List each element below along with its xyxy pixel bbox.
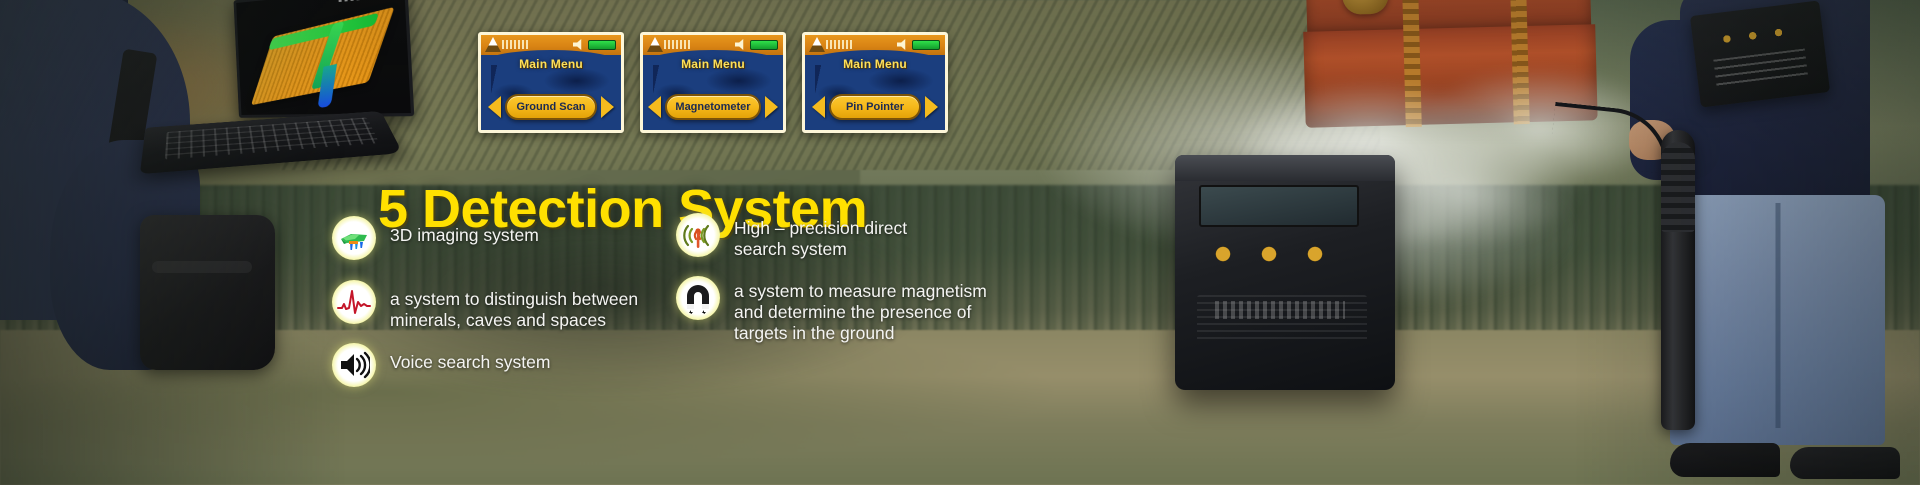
3d-imaging-icon — [332, 216, 376, 260]
battery-icon — [912, 40, 940, 50]
next-mode-arrow-icon[interactable] — [925, 96, 938, 118]
feature-label: High – precision direct search system — [734, 213, 907, 260]
feature-label: Voice search system — [390, 343, 550, 373]
mode-selector-row: Magnetometer — [643, 94, 783, 120]
right-operator-photo — [1560, 0, 1920, 485]
brand-logo-icon — [485, 37, 501, 52]
previous-mode-arrow-icon[interactable] — [812, 96, 825, 118]
waveform-pulse-icon — [332, 280, 376, 324]
ground-scan-3d-visualization — [254, 0, 399, 114]
brand-text-mark — [502, 40, 530, 49]
speaker-icon[interactable] — [573, 39, 584, 50]
mode-button[interactable]: Pin Pointer — [829, 94, 921, 120]
speaker-icon[interactable] — [735, 39, 746, 50]
right-operator-jeans — [1670, 195, 1885, 445]
tablet-indicator-lights — [1716, 24, 1789, 47]
feature-item-high-precision-search: High – precision direct search system — [676, 213, 907, 260]
right-operator-shoe — [1790, 447, 1900, 479]
feature-label: 3D imaging system — [390, 216, 539, 246]
mode-selector-row: Ground Scan — [481, 94, 621, 120]
device-menu-panels: Main Menu Ground Scan Main Menu Magnetom… — [478, 32, 948, 133]
banner-stage: Main Menu Ground Scan Main Menu Magnetom… — [0, 0, 1920, 485]
feature-item-voice-search: Voice search system — [332, 343, 550, 387]
next-mode-arrow-icon[interactable] — [601, 96, 614, 118]
detector-top-panel — [1175, 155, 1395, 181]
feature-label: a system to measure magnetism and determ… — [734, 276, 987, 344]
detector-brand-logo — [1215, 301, 1345, 319]
previous-mode-arrow-icon[interactable] — [648, 96, 661, 118]
probe-grip — [1661, 142, 1695, 232]
panel-title: Main Menu — [643, 57, 783, 71]
equipment-bag — [140, 215, 275, 370]
battery-icon — [750, 40, 778, 50]
feature-list: 3D imaging system a system to distinguis… — [332, 216, 1092, 386]
laptop-keys — [165, 117, 379, 159]
feature-item-3d-imaging: 3D imaging system — [332, 216, 539, 260]
laptop-keyboard-base — [140, 111, 403, 174]
next-mode-arrow-icon[interactable] — [765, 96, 778, 118]
detector-device-image — [1175, 155, 1395, 390]
magnet-icon — [676, 276, 720, 320]
brand-logo-icon — [809, 37, 825, 52]
panel-header-bar — [481, 35, 621, 55]
menu-panel-ground-scan[interactable]: Main Menu Ground Scan — [478, 32, 624, 133]
feature-item-magnetism: a system to measure magnetism and determ… — [676, 276, 987, 344]
laptop-screen — [234, 0, 415, 118]
brand-logo-icon — [647, 37, 663, 52]
speaker-icon[interactable] — [897, 39, 908, 50]
signal-antenna-icon — [676, 213, 720, 257]
detector-knobs — [1209, 241, 1359, 267]
laptop-image — [145, 0, 415, 177]
brand-text-mark — [826, 40, 854, 49]
panel-title: Main Menu — [805, 57, 945, 71]
handheld-tablet-image — [1690, 0, 1830, 107]
mode-selector-row: Pin Pointer — [805, 94, 945, 120]
tablet-screen-lines — [1713, 49, 1808, 90]
feature-item-mineral-discrimination: a system to distinguish between minerals… — [332, 280, 638, 331]
panel-title: Main Menu — [481, 57, 621, 71]
mode-button[interactable]: Ground Scan — [505, 94, 597, 120]
battery-icon — [588, 40, 616, 50]
menu-panel-magnetometer[interactable]: Main Menu Magnetometer — [640, 32, 786, 133]
panel-header-bar — [643, 35, 783, 55]
mode-button[interactable]: Magnetometer — [665, 94, 760, 120]
detector-screen — [1199, 185, 1359, 227]
panel-header-bar — [805, 35, 945, 55]
previous-mode-arrow-icon[interactable] — [488, 96, 501, 118]
search-probe-image — [1661, 130, 1695, 430]
speaker-sound-icon — [332, 343, 376, 387]
brand-text-mark — [664, 40, 692, 49]
feature-label: a system to distinguish between minerals… — [390, 280, 638, 331]
right-operator-shoe — [1670, 443, 1780, 477]
menu-panel-pin-pointer[interactable]: Main Menu Pin Pointer — [802, 32, 948, 133]
